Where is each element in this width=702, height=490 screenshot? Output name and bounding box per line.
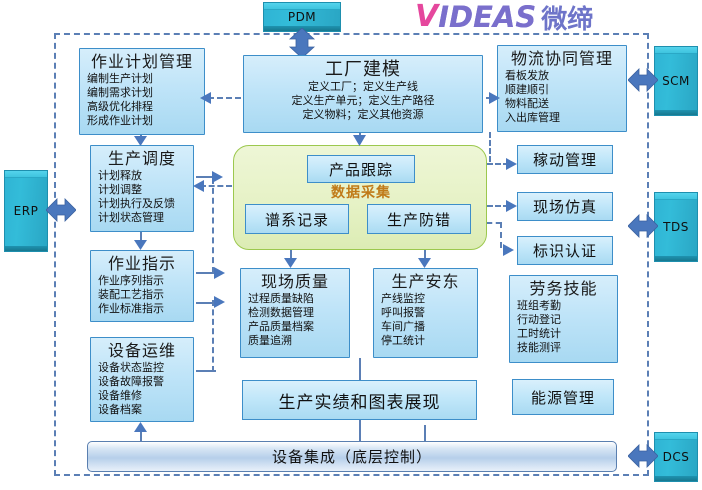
connector-dashed	[200, 185, 232, 187]
connector-dashed	[487, 222, 501, 224]
list-item: 行动登记	[517, 313, 617, 327]
arrowhead-down-icon	[353, 135, 366, 146]
list-item: 装配工艺指示	[98, 288, 193, 302]
list-item: 形成作业计划	[87, 114, 204, 128]
arrowhead-down-icon	[134, 240, 147, 250]
chip-identification-authentication[interactable]: 标识认证	[517, 236, 613, 265]
module-plan-management-title: 作业计划管理	[91, 52, 193, 71]
list-item: 作业序列指示	[98, 274, 193, 288]
chip-production-error-proofing-label: 生产防错	[387, 209, 451, 230]
module-labor-skills-title: 劳务技能	[529, 279, 597, 298]
chip-energy-management-label: 能源管理	[531, 387, 595, 408]
diagram-canvas: VIDEAS微缔 PDM SCM TDS DCS ERP 作业计划管理 编制生产…	[0, 0, 702, 490]
arrowhead-left-icon	[193, 180, 204, 192]
arrowhead-right-icon	[489, 92, 500, 104]
list-item: 看板发放	[505, 69, 626, 83]
list-item: 过程质量缺陷	[248, 292, 349, 306]
module-factory-modeling-items: 定义工厂；定义生产线 定义生产单元；定义生产路径 定义物料；定义其他资源	[244, 80, 482, 122]
module-production-scheduling-items: 计划释放 计划调整 计划执行及反馈 计划状态管理	[91, 169, 193, 225]
module-work-instruction-items: 作业序列指示 装配工艺指示 作业标准指示	[91, 274, 193, 316]
arrowhead-down-icon	[418, 258, 431, 268]
logo-v-mark: V	[415, 2, 438, 32]
module-production-andon[interactable]: 生产安东 产线监控 呼叫报警 车间广播 停工统计	[373, 268, 478, 358]
list-item: 计划状态管理	[98, 211, 193, 225]
list-item: 产线监控	[381, 292, 477, 306]
arrowhead-up-icon	[134, 422, 147, 432]
module-production-performance-charts-label: 生产实绩和图表展现	[279, 388, 441, 413]
arrowhead-right-icon	[212, 171, 223, 183]
module-labor-skills-items: 班组考勤 行动登记 工时统计 技能测评	[510, 299, 617, 355]
list-item: 高级优化排程	[87, 100, 204, 114]
arrowhead-down-icon	[284, 258, 297, 268]
module-logistics-collaboration-items: 看板发放 顺建顺引 物料配送 入出库管理	[498, 69, 626, 125]
external-system-tds[interactable]: TDS	[654, 192, 698, 262]
chip-operation-rate-management-label: 稼动管理	[533, 149, 597, 170]
list-item: 产品质量档案	[248, 320, 349, 334]
list-item: 工时统计	[517, 327, 617, 341]
list-item: 计划调整	[98, 183, 193, 197]
connector-dashed	[212, 300, 214, 372]
module-production-andon-title: 生产安东	[391, 272, 459, 291]
module-production-andon-items: 产线监控 呼叫报警 车间广播 停工统计	[374, 292, 477, 348]
list-item: 设备状态监控	[98, 361, 193, 375]
data-collection-label: 数据采集	[318, 182, 404, 202]
chip-shopfloor-simulation-label: 现场仿真	[533, 196, 597, 217]
chip-shopfloor-simulation[interactable]: 现场仿真	[517, 192, 613, 221]
module-labor-skills[interactable]: 劳务技能 班组考勤 行动登记 工时统计 技能测评	[509, 275, 618, 363]
list-item: 物料配送	[505, 97, 626, 111]
module-shopfloor-quality-items: 过程质量缺陷 检测数据管理 产品质量档案 质量追溯	[241, 292, 349, 348]
external-system-dcs[interactable]: DCS	[654, 432, 698, 482]
external-system-scm[interactable]: SCM	[654, 46, 698, 116]
module-equipment-maintenance-title: 设备运维	[108, 341, 176, 360]
arrowhead-right-icon	[506, 200, 517, 212]
chip-product-tracking[interactable]: 产品跟踪	[307, 155, 415, 183]
dcs-bidirectional-arrow	[628, 444, 658, 468]
list-item: 停工统计	[381, 334, 477, 348]
list-item: 计划释放	[98, 169, 193, 183]
module-factory-modeling-title: 工厂建模	[325, 60, 401, 79]
list-item: 技能测评	[517, 341, 617, 355]
list-item: 计划执行及反馈	[98, 197, 193, 211]
list-item: 编制需求计划	[87, 86, 204, 100]
list-item: 设备故障报警	[98, 375, 193, 389]
module-production-performance-charts[interactable]: 生产实绩和图表展现	[242, 380, 477, 420]
chip-genealogy-record-label: 谱系记录	[265, 209, 329, 230]
module-work-instruction[interactable]: 作业指示 作业序列指示 装配工艺指示 作业标准指示	[90, 250, 194, 322]
list-item: 作业标准指示	[98, 302, 193, 316]
arrowhead-right-icon	[214, 267, 225, 279]
connector-line	[196, 370, 216, 372]
connector-dashed	[489, 132, 491, 162]
external-system-pdm-label: PDM	[288, 10, 316, 24]
list-item: 质量追溯	[248, 334, 349, 348]
list-item: 编制生产计划	[87, 72, 204, 86]
list-item: 班组考勤	[517, 299, 617, 313]
arrowhead-right-icon	[214, 296, 225, 308]
connector-line	[359, 358, 361, 380]
arrowhead-left-icon	[200, 92, 211, 104]
list-item: 设备维修	[98, 389, 193, 403]
external-system-tds-label: TDS	[663, 220, 689, 234]
connector-line	[424, 425, 426, 441]
connector-dashed	[500, 222, 502, 248]
module-equipment-integration-label: 设备集成（底层控制）	[272, 446, 432, 467]
module-shopfloor-quality[interactable]: 现场质量 过程质量缺陷 检测数据管理 产品质量档案 质量追溯	[240, 268, 350, 358]
module-equipment-maintenance[interactable]: 设备运维 设备状态监控 设备故障报警 设备维修 设备档案	[90, 337, 194, 422]
tds-bidirectional-arrow	[628, 214, 658, 238]
chip-production-error-proofing[interactable]: 生产防错	[367, 204, 471, 234]
logo-chinese-text: 微缔	[541, 0, 593, 36]
chip-operation-rate-management[interactable]: 稼动管理	[517, 145, 613, 174]
arrowhead-right-icon	[506, 158, 517, 170]
chip-product-tracking-label: 产品跟踪	[329, 159, 393, 180]
module-plan-management[interactable]: 作业计划管理 编制生产计划 编制需求计划 高级优化排程 形成作业计划	[79, 48, 205, 135]
videas-logo: VIDEAS微缔	[415, 2, 593, 32]
list-item: 呼叫报警	[381, 306, 477, 320]
connector-line	[359, 420, 361, 442]
external-system-erp-label: ERP	[14, 204, 39, 218]
list-item: 检测数据管理	[248, 306, 349, 320]
arrowhead-right-icon	[503, 244, 514, 256]
logo-latin-text: IDEAS	[438, 3, 536, 32]
list-item: 设备档案	[98, 403, 193, 417]
chip-identification-authentication-label: 标识认证	[533, 240, 597, 261]
module-production-scheduling[interactable]: 生产调度 计划释放 计划调整 计划执行及反馈 计划状态管理	[90, 145, 194, 232]
connector-line	[196, 272, 214, 274]
list-item: 顺建顺引	[505, 83, 626, 97]
list-item: 车间广播	[381, 320, 477, 334]
chip-energy-management[interactable]: 能源管理	[512, 379, 614, 415]
chip-genealogy-record[interactable]: 谱系记录	[245, 204, 349, 234]
module-plan-management-items: 编制生产计划 编制需求计划 高级优化排程 形成作业计划	[80, 72, 204, 128]
list-item: 入出库管理	[505, 111, 626, 125]
module-work-instruction-title: 作业指示	[108, 254, 176, 273]
list-item: 定义工厂；定义生产线	[244, 80, 482, 94]
erp-bidirectional-arrow	[46, 198, 76, 222]
module-production-scheduling-title: 生产调度	[108, 149, 176, 168]
module-shopfloor-quality-title: 现场质量	[261, 272, 329, 291]
arrowhead-down-icon	[134, 136, 147, 146]
external-system-scm-label: SCM	[662, 74, 690, 88]
connector-dashed	[212, 178, 214, 273]
list-item: 定义生产单元；定义生产路径	[244, 94, 482, 108]
scm-bidirectional-arrow	[628, 68, 658, 92]
module-logistics-collaboration[interactable]: 物流协同管理 看板发放 顺建顺引 物料配送 入出库管理	[497, 45, 627, 132]
external-system-erp[interactable]: ERP	[4, 170, 48, 252]
module-equipment-integration[interactable]: 设备集成（底层控制）	[87, 441, 617, 472]
module-equipment-maintenance-items: 设备状态监控 设备故障报警 设备维修 设备档案	[91, 361, 193, 417]
external-system-dcs-label: DCS	[663, 450, 690, 464]
module-logistics-collaboration-title: 物流协同管理	[511, 49, 613, 68]
list-item: 定义物料；定义其他资源	[244, 108, 482, 122]
pdm-bidirectional-arrow	[288, 28, 316, 58]
connector-dashed	[208, 97, 241, 99]
module-factory-modeling[interactable]: 工厂建模 定义工厂；定义生产线 定义生产单元；定义生产路径 定义物料；定义其他资…	[243, 55, 483, 133]
connector-line	[196, 302, 214, 304]
